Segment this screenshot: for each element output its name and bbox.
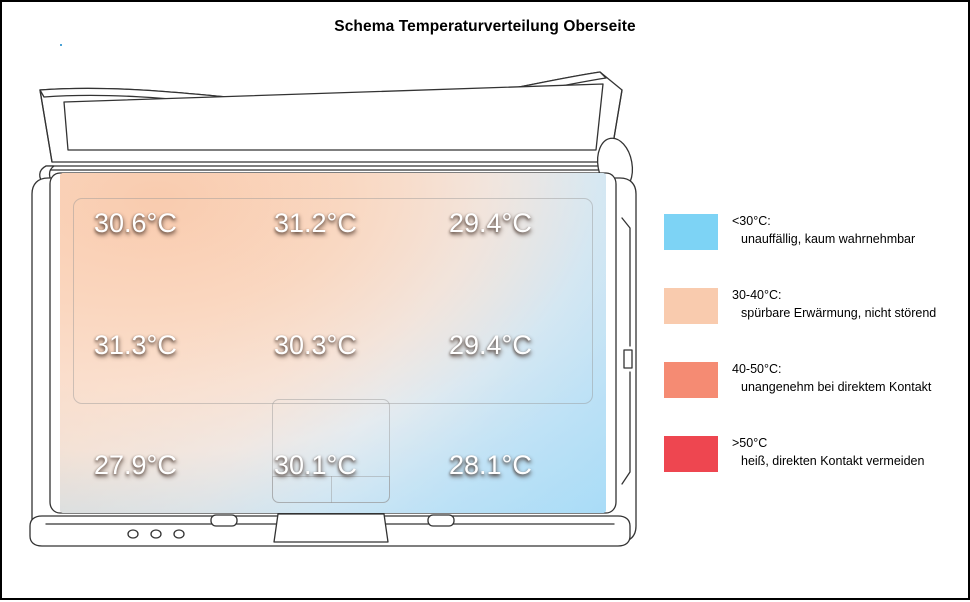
legend-swatch-warm: [664, 288, 718, 324]
lid-latch-left: [211, 515, 237, 526]
legend-text-warm: 30-40°C: spürbare Erwärmung, nicht störe…: [732, 286, 964, 322]
legend-swatch-hot: [664, 362, 718, 398]
laptop-illustration: [2, 2, 682, 602]
legend-range-warm: 30-40°C:: [732, 286, 964, 304]
legend-swatch-cool: [664, 214, 718, 250]
laptop-outline-svg: [2, 2, 682, 602]
status-led-1: [128, 530, 138, 538]
legend-text-very-hot: >50°C heiß, direkten Kontakt vermeiden: [732, 434, 964, 470]
legend-range-very-hot: >50°C: [732, 434, 964, 452]
legend-item-warm: 30-40°C: spürbare Erwärmung, nicht störe…: [664, 280, 964, 354]
lid-latch-right: [428, 515, 454, 526]
legend-range-cool: <30°C:: [732, 212, 964, 230]
status-led-2: [151, 530, 161, 538]
legend-text-hot: 40-50°C: unangenehm bei direktem Kontakt: [732, 360, 964, 396]
figure-canvas: Schema Temperaturverteilung Oberseite: [0, 0, 970, 600]
temperature-legend: <30°C: unauffällig, kaum wahrnehmbar 30-…: [664, 206, 964, 502]
status-led-3: [174, 530, 184, 538]
laptop-right-port-slot: [624, 350, 632, 368]
front-center-module: [274, 514, 388, 542]
legend-item-hot: 40-50°C: unangenehm bei direktem Kontakt: [664, 354, 964, 428]
legend-swatch-very-hot: [664, 436, 718, 472]
legend-desc-cool: unauffällig, kaum wahrnehmbar: [732, 230, 964, 248]
legend-item-very-hot: >50°C heiß, direkten Kontakt vermeiden: [664, 428, 964, 502]
legend-desc-hot: unangenehm bei direktem Kontakt: [732, 378, 964, 396]
legend-text-cool: <30°C: unauffällig, kaum wahrnehmbar: [732, 212, 964, 248]
legend-desc-warm: spürbare Erwärmung, nicht störend: [732, 304, 964, 322]
legend-range-hot: 40-50°C:: [732, 360, 964, 378]
laptop-top-deck: [50, 173, 616, 513]
legend-item-cool: <30°C: unauffällig, kaum wahrnehmbar: [664, 206, 964, 280]
legend-desc-very-hot: heiß, direkten Kontakt vermeiden: [732, 452, 964, 470]
